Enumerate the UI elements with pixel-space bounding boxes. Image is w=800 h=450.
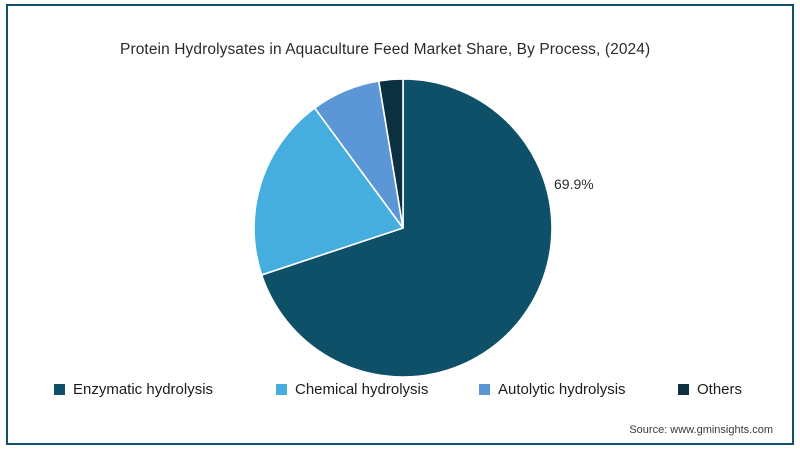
legend-swatch-icon bbox=[479, 384, 490, 395]
pie-chart bbox=[253, 78, 553, 378]
chart-page: Protein Hydrolysates in Aquaculture Feed… bbox=[0, 0, 800, 450]
source-attribution: Source: www.gminsights.com bbox=[629, 424, 773, 436]
chart-legend: Enzymatic hydrolysisChemical hydrolysisA… bbox=[54, 381, 754, 403]
legend-label: Enzymatic hydrolysis bbox=[73, 381, 213, 398]
legend-item[interactable]: Others bbox=[678, 381, 742, 398]
legend-swatch-icon bbox=[54, 384, 65, 395]
legend-label: Chemical hydrolysis bbox=[295, 381, 428, 398]
legend-label: Others bbox=[697, 381, 742, 398]
slice-value-label-enzymatic: 69.9% bbox=[554, 176, 594, 192]
legend-label: Autolytic hydrolysis bbox=[498, 381, 626, 398]
legend-swatch-icon bbox=[276, 384, 287, 395]
legend-item[interactable]: Autolytic hydrolysis bbox=[479, 381, 626, 398]
page-title: Protein Hydrolysates in Aquaculture Feed… bbox=[120, 41, 650, 59]
pie-slice-group bbox=[254, 79, 552, 377]
legend-item[interactable]: Enzymatic hydrolysis bbox=[54, 381, 213, 398]
pie-chart-svg bbox=[253, 78, 553, 378]
legend-item[interactable]: Chemical hydrolysis bbox=[276, 381, 428, 398]
legend-swatch-icon bbox=[678, 384, 689, 395]
